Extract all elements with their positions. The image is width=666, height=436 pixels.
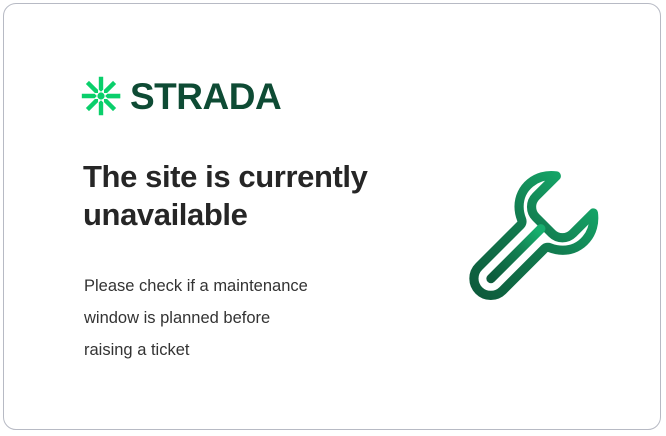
description-line: window is planned before xyxy=(84,302,404,334)
description-line: Please check if a maintenance xyxy=(84,270,404,302)
page-title: The site is currently unavailable xyxy=(83,158,423,234)
page-description: Please check if a maintenance window is … xyxy=(84,270,404,366)
strada-asterisk-icon xyxy=(81,76,121,116)
brand-logo: STRADA xyxy=(81,74,281,118)
wrench-icon xyxy=(459,159,614,314)
status-card: STRADA The site is currently unavailable… xyxy=(3,3,661,430)
error-page: STRADA The site is currently unavailable… xyxy=(0,0,666,436)
description-line: raising a ticket xyxy=(84,334,404,366)
brand-wordmark: STRADA xyxy=(130,78,281,115)
